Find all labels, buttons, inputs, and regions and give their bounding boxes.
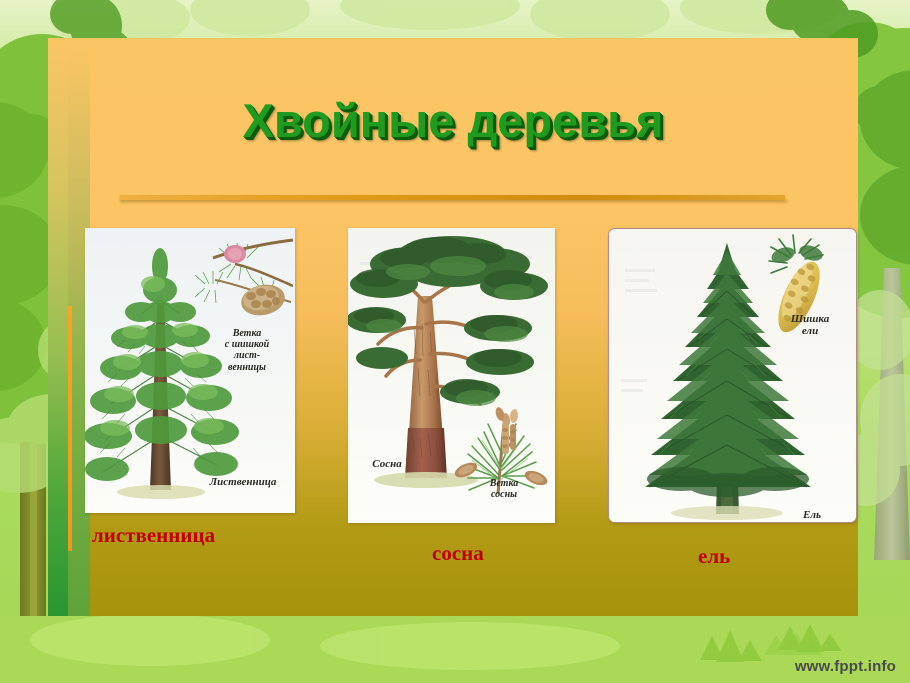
spruce-caption-line-2: ели [773,325,847,337]
larch-main-caption: Лиственница [193,476,293,488]
vertical-accent-line [68,306,72,551]
slide-canvas: Хвойные деревья [0,0,910,683]
divider-shadow [120,200,788,203]
watermark-text: www.fppt.info [795,658,896,675]
page-title: Хвойные деревья [48,93,858,148]
pine-caption-line-2: сосны [466,489,542,500]
spruce-illustration [609,229,856,522]
label-spruce: ель [698,544,730,569]
watermark-leaf-icon [758,631,824,657]
larch-caption-line-3: лист- [201,350,293,361]
spruce-cone-caption: Шишка ели [773,313,847,338]
card-larch[interactable]: Ветка с шишкой лист- венницы Лиственница [85,228,295,513]
label-larch: лиственница [92,523,215,548]
card-spruce[interactable]: Шишка ели Ель [608,228,857,523]
content-panel: Хвойные деревья [48,38,858,616]
label-pine: сосна [432,541,484,566]
title-divider [120,195,785,200]
larch-caption-line-4: венницы [201,362,293,373]
spruce-caption-line-1: Шишка [773,313,847,325]
larch-caption-line-1: Ветка [201,328,293,339]
pine-main-caption: Сосна [354,458,420,470]
larch-caption-line-2: с шишкой [201,339,293,350]
pine-branch-caption: Ветка сосны [466,478,542,500]
spruce-main-caption: Ель [787,509,837,521]
pine-caption-line-1: Ветка [466,478,542,489]
card-pine[interactable]: Сосна Ветка сосны [348,228,555,523]
larch-branch-caption: Ветка с шишкой лист- венницы [201,328,293,373]
